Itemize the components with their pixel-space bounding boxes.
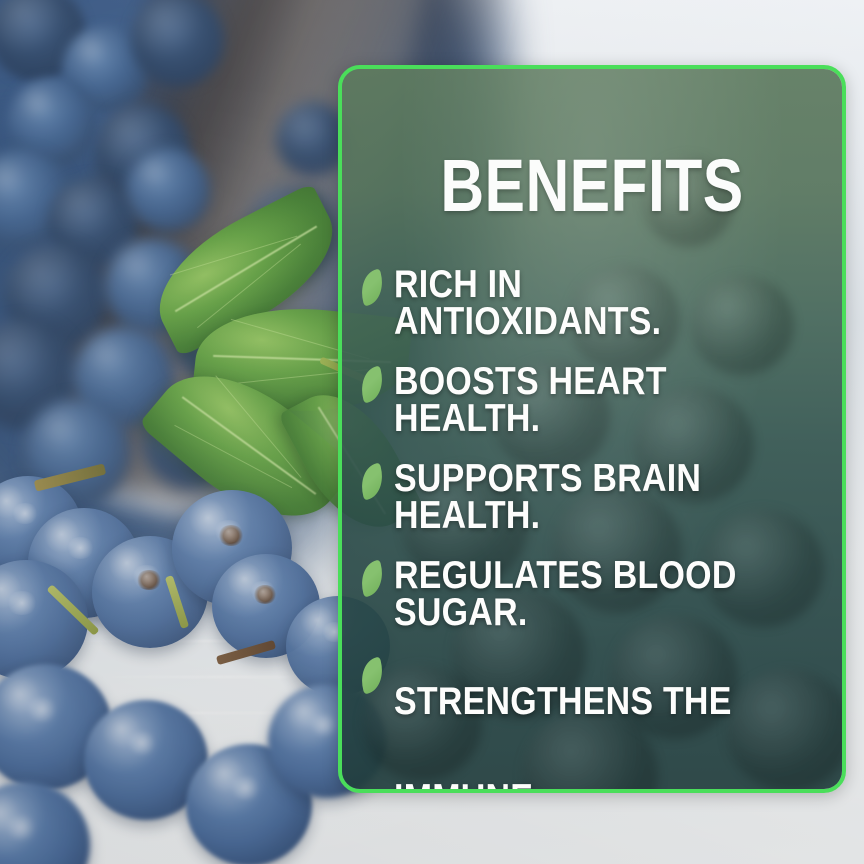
- benefits-list: RICH IN ANTIOXIDANTS. BOOSTS HEART HEALT…: [360, 265, 828, 793]
- leaf-icon: [360, 465, 384, 498]
- benefits-card: BENEFITS RICH IN ANTIOXIDANTS. BOOSTS HE…: [338, 65, 846, 793]
- benefit-label: BOOSTS HEART HEALTH.: [394, 362, 772, 437]
- benefit-label: SUPPORTS BRAIN HEALTH.: [394, 459, 772, 534]
- benefit-item: STRENGTHENS THE IMMUNE SYSTEM.: [360, 653, 828, 793]
- leaf-icon: [360, 271, 384, 304]
- poster-canvas: BENEFITS RICH IN ANTIOXIDANTS. BOOSTS HE…: [0, 0, 864, 864]
- benefit-item: REGULATES BLOOD SUGAR.: [360, 556, 828, 653]
- leaf-icon: [360, 562, 384, 595]
- benefit-label: RICH IN ANTIOXIDANTS.: [394, 265, 772, 340]
- benefit-label: STRENGTHENS THE IMMUNE SYSTEM.: [394, 653, 772, 793]
- card-title: BENEFITS: [387, 155, 797, 217]
- benefit-item: SUPPORTS BRAIN HEALTH.: [360, 459, 828, 556]
- berry-blur: [126, 148, 210, 232]
- leaf-icon: [360, 368, 384, 401]
- benefit-item: RICH IN ANTIOXIDANTS.: [360, 265, 828, 362]
- benefit-item: BOOSTS HEART HEALTH.: [360, 362, 828, 459]
- leaf-icon: [360, 659, 384, 692]
- benefit-label: REGULATES BLOOD SUGAR.: [394, 556, 772, 631]
